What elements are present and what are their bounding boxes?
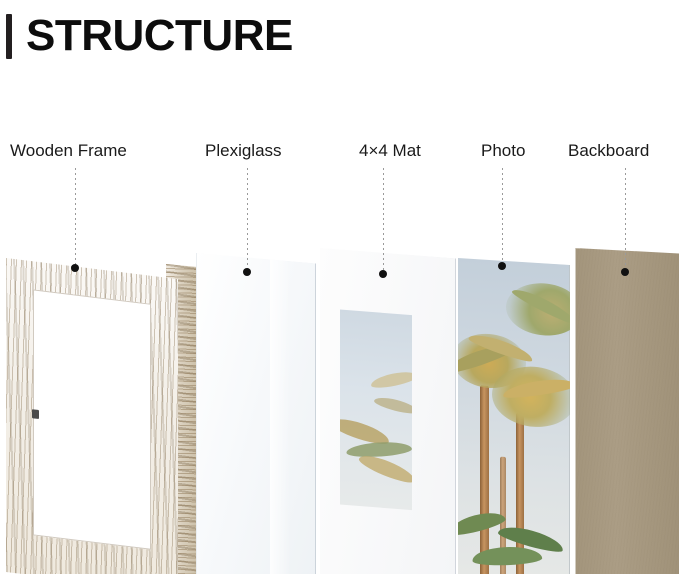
frame-clip: [32, 409, 39, 419]
component-plexiglass: [196, 253, 316, 574]
leader-line-wooden-frame: [75, 168, 76, 268]
leader-dot-photo: [498, 262, 506, 270]
component-wooden-frame: [6, 258, 196, 574]
label-mat: 4×4 Mat: [359, 142, 421, 159]
leader-line-mat: [383, 168, 384, 274]
leader-dot-plexiglass: [243, 268, 251, 276]
label-wooden-frame: Wooden Frame: [10, 142, 127, 159]
frame-face: [6, 258, 178, 574]
plexiglass-gloss: [270, 260, 289, 574]
leader-dot-mat: [379, 270, 387, 278]
frame-opening: [33, 289, 151, 549]
label-photo: Photo: [481, 142, 525, 159]
label-plexiglass: Plexiglass: [205, 142, 282, 159]
leader-dot-wooden-frame: [71, 264, 79, 272]
component-backboard: [575, 248, 679, 574]
component-photo: [458, 258, 570, 574]
structure-infographic: STRUCTURE: [0, 0, 679, 574]
leader-line-backboard: [625, 168, 626, 272]
label-backboard: Backboard: [568, 142, 649, 159]
leader-line-plexiglass: [247, 168, 248, 272]
exploded-diagram: [0, 0, 679, 574]
mat-window-cutout: [340, 310, 412, 511]
leader-dot-backboard: [621, 268, 629, 276]
leader-line-photo: [502, 168, 503, 266]
component-mat: [320, 248, 456, 574]
